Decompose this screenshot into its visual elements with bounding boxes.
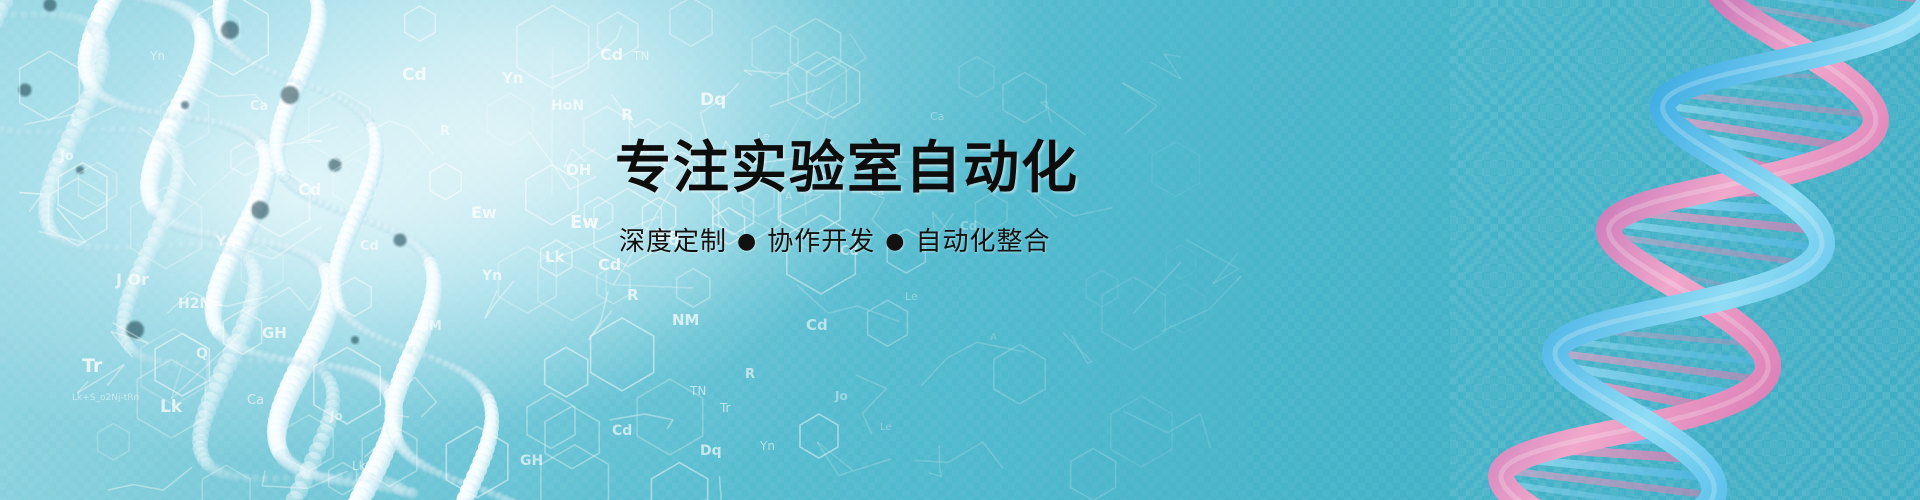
svg-text:Jo: Jo — [834, 389, 848, 403]
svg-text:R: R — [621, 105, 633, 124]
svg-text:Jo: Jo — [329, 409, 343, 423]
svg-text:Ew: Ew — [570, 212, 599, 233]
svg-text:Le: Le — [880, 422, 892, 433]
svg-text:Q: Q — [196, 346, 208, 362]
right-panel-texture — [1450, 0, 1920, 500]
svg-text:Tr: Tr — [719, 401, 731, 415]
pearl-dna-helix — [0, 0, 590, 500]
svg-text:Cd: Cd — [360, 239, 379, 254]
subtitle-item-1: 深度定制 — [619, 227, 727, 257]
svg-text:Lk: Lk — [545, 248, 566, 266]
svg-text:Cd: Cd — [598, 255, 621, 274]
svg-text:H2N=: H2N= — [178, 296, 223, 312]
svg-text:Yn: Yn — [481, 268, 502, 284]
svg-text:TN: TN — [632, 49, 649, 63]
svg-text:Dq: Dq — [700, 90, 726, 110]
svg-text:R: R — [440, 124, 450, 139]
subtitle-item-2: 协作开发 — [767, 227, 875, 257]
bullet-separator-icon: ● — [885, 229, 905, 254]
svg-text:Yn: Yn — [215, 234, 236, 250]
svg-text:Yn: Yn — [501, 69, 524, 87]
svg-text:Ew: Ew — [471, 203, 497, 222]
svg-text:HoN: HoN — [551, 98, 584, 114]
svg-text:R: R — [745, 367, 755, 382]
svg-text:Yn: Yn — [759, 439, 775, 453]
hero-banner: TrLkJ OrH2N=GHCaQYnLk+S_o2Nj-tRnCdCdYnHo… — [0, 0, 1920, 500]
svg-text:Yn: Yn — [149, 49, 165, 63]
svg-text:NM: NM — [672, 311, 699, 329]
page-title: 专注实验室自动化 — [615, 140, 1315, 199]
svg-text:NM: NM — [418, 319, 442, 334]
hero-subtitle: 深度定制●协作开发●自动化整合 — [619, 221, 1315, 258]
svg-text:J Or: J Or — [115, 270, 149, 289]
svg-text:Ca: Ca — [250, 99, 268, 114]
subtitle-item-3: 自动化整合 — [915, 227, 1050, 257]
svg-text:Jo: Jo — [59, 149, 74, 164]
svg-text:Cd: Cd — [402, 65, 427, 85]
svg-text:A: A — [990, 332, 997, 343]
svg-text:R: R — [627, 286, 639, 304]
svg-text:Cd: Cd — [600, 45, 623, 64]
svg-text:Ca: Ca — [247, 393, 264, 408]
svg-text:Ca: Ca — [930, 110, 944, 123]
svg-text:Lk: Lk — [160, 397, 183, 417]
svg-text:Le: Le — [905, 290, 918, 303]
bullet-separator-icon: ● — [737, 229, 757, 254]
color-dna-helix — [1420, 0, 1920, 500]
svg-text:Cd: Cd — [612, 423, 632, 439]
svg-text:GH: GH — [262, 324, 287, 342]
svg-text:OH: OH — [566, 161, 591, 179]
svg-text:GH: GH — [520, 453, 543, 469]
svg-text:TN: TN — [689, 384, 706, 398]
hero-text-block: 专注实验室自动化 深度定制●协作开发●自动化整合 — [615, 140, 1315, 258]
svg-text:Dq: Dq — [700, 443, 722, 459]
svg-text:Tr: Tr — [82, 355, 103, 377]
svg-text:Lk: Lk — [352, 459, 366, 473]
svg-text:Cd: Cd — [298, 180, 321, 199]
svg-text:Lk+S_o2Nj-tRn: Lk+S_o2Nj-tRn — [72, 393, 139, 403]
svg-text:Cd: Cd — [806, 316, 828, 334]
